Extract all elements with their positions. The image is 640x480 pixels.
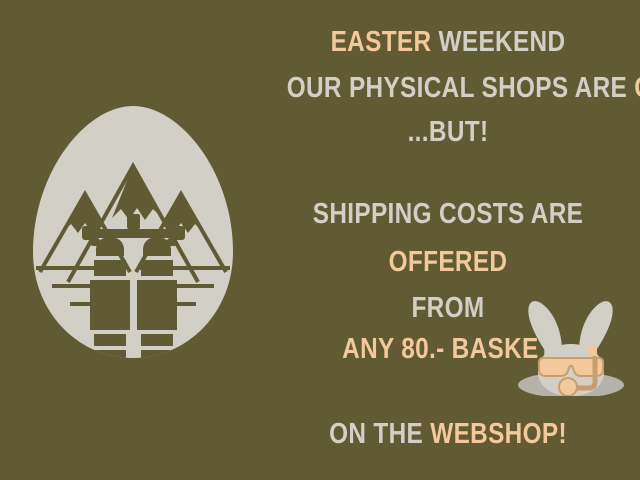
but-word: ...BUT! [408,116,489,148]
headline-weekend-word: WEEKEND [439,26,566,58]
headline-offered: OFFERED [287,248,610,277]
tank-stem [127,214,140,229]
tank-valve-bar-right-cap [171,226,185,240]
headline-on-the-webshop: ON THE WEBSHOP! [287,420,610,449]
snorkel-mouthpiece [559,378,577,396]
closed-word: CLOSED... [634,72,640,104]
easter-promo-poster: EASTER WEEKEND OUR PHYSICAL SHOPS ARE CL… [0,0,640,480]
scuba-bunny-svg [505,292,640,396]
headline-easter-weekend: EASTER WEEKEND [287,28,610,57]
headline-shops-closed: OUR PHYSICAL SHOPS ARE CLOSED... [287,74,610,103]
tank-left-neck [90,238,100,246]
poster-text-block: EASTER WEEKEND OUR PHYSICAL SHOPS ARE CL… [256,0,640,480]
headline-but: ...BUT! [287,118,610,147]
shipping-costs-text: SHIPPING COSTS ARE [313,198,583,230]
from-word: FROM [411,292,484,324]
snorkel-tube-top-clip [588,346,597,355]
tank-right-band-1 [141,260,173,276]
on-the-text: ON THE [329,418,430,450]
tank-right-band-2 [141,334,173,346]
headline-easter-word: EASTER [331,26,439,58]
tank-left-band-2 [94,334,126,346]
tank-right-neck [167,238,177,246]
shops-prefix-text: OUR PHYSICAL SHOPS ARE [287,72,634,104]
egg-illustration [28,104,238,360]
tank-valve-bar-left-cap [82,226,96,240]
egg-scuba-svg [28,104,238,360]
tank-right-base [141,350,173,360]
tank-valve-bar [86,229,181,238]
bunny-illustration [505,292,640,396]
headline-shipping-costs: SHIPPING COSTS ARE [287,200,610,229]
tank-left-body [90,280,130,330]
tank-left-base [94,350,126,360]
tank-right-body [137,280,177,330]
tank-left-band-1 [94,260,126,276]
offered-word: OFFERED [389,246,508,278]
webshop-word: WEBSHOP! [430,418,567,450]
